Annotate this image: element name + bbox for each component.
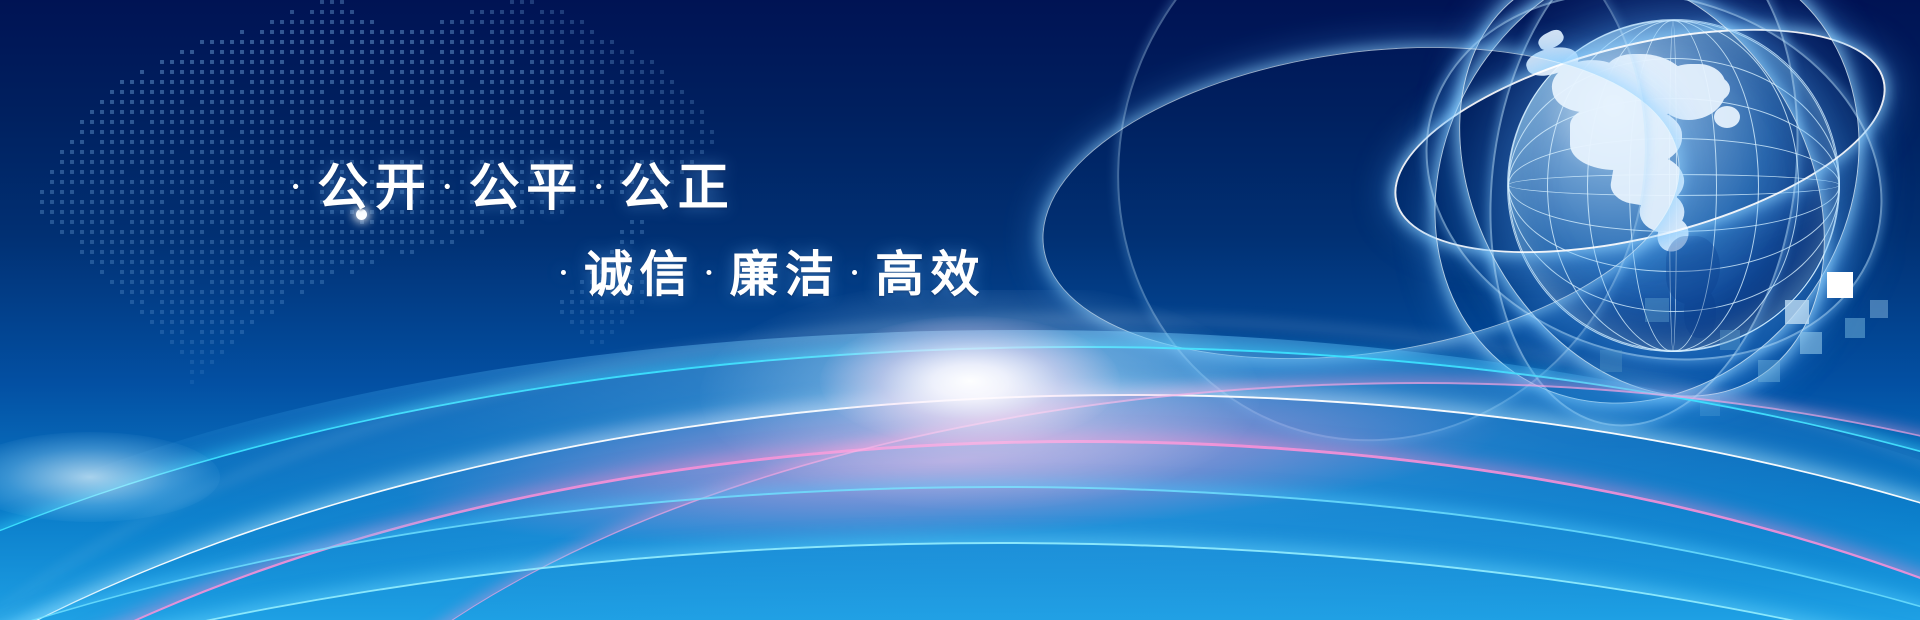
slogan-word: 诚信 (584, 245, 695, 303)
slogan-separator: · (591, 170, 613, 203)
slogan-separator: · (288, 170, 310, 203)
slogan-word: 公开 (317, 158, 432, 218)
slogan-word: 廉洁 (730, 245, 841, 303)
banner-root: ·公开·公平·公正 ·诚信·廉洁·高效 (0, 0, 1920, 620)
slogan-separator: · (847, 258, 868, 289)
slogan-word: 公平 (469, 158, 584, 218)
slogan-separator: · (702, 258, 723, 289)
slogan-block: ·公开·公平·公正 ·诚信·廉洁·高效 (0, 0, 1120, 340)
slogan-line-1: ·公开·公平·公正 (288, 146, 743, 220)
slogan-separator: · (440, 170, 462, 203)
slogan-line-2: ·诚信·廉洁·高效 (556, 235, 993, 306)
slogan-word: 高效 (875, 245, 986, 303)
slogan-separator: · (556, 258, 577, 289)
slogan-word: 公正 (620, 158, 735, 218)
